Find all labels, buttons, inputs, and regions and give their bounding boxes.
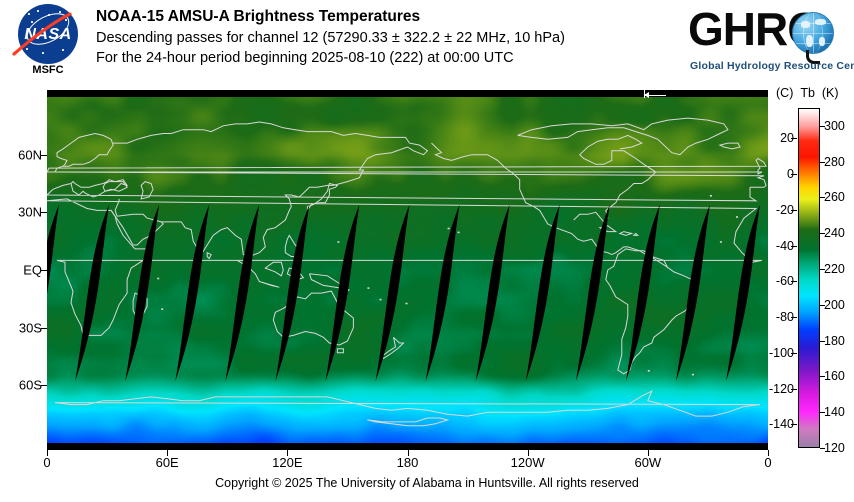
colorbar-celsius-label: -100 [769,346,794,360]
colorbar-celsius-label: -140 [769,417,794,431]
nasa-logo: NASA MSFC [12,4,84,82]
colorbar-celsius-label: -120 [769,382,794,396]
colorbar-kelvin-label: 260 [824,190,845,204]
swath-gap-overlay [47,97,768,443]
colorbar-kelvin-label: 280 [824,155,845,169]
copyright-notice: Copyright © 2025 The University of Alaba… [0,476,854,490]
swath-gap-wedge [47,97,768,443]
colorbar-unit-c: (C) [776,86,793,100]
ghrc-logo: GHRC Global Hydrology Resource Center [688,4,848,78]
colorbar-kelvin-label: 180 [824,334,845,348]
colorbar-kelvin-label: 300 [824,119,845,133]
y-axis-label: 30N [18,205,42,220]
y-axis-label: 60S [19,378,42,393]
x-axis-label: 0 [764,455,771,470]
colorbar-unit-k: (K) [822,86,839,100]
nasa-swoosh-icon [10,10,76,58]
colorbar-celsius-label: -40 [776,239,794,253]
map-canvas [47,97,768,443]
visualization-page: NASA MSFC NOAA-15 AMSU-A Brightness Temp… [0,0,854,502]
subtitle-channel: Descending passes for channel 12 (57290.… [96,30,676,46]
x-axis-label: 0 [43,455,50,470]
y-axis-label: EQ [23,263,42,278]
colorbar-label-tb: Tb [800,86,815,100]
subtitle-period: For the 24-hour period beginning 2025-08… [96,50,676,66]
colorbar-celsius-label: -20 [776,203,794,217]
colorbar-kelvin-label: 140 [824,405,845,419]
ghrc-subtitle: Global Hydrology Resource Center [690,60,854,72]
title-block: NOAA-15 AMSU-A Brightness Temperatures D… [96,8,676,66]
colorbar-kelvin-label: 160 [824,369,845,383]
colorbar-kelvin-label: 200 [824,298,845,312]
map-plot [47,90,768,450]
colorbar-kelvin-label: 120 [824,441,845,455]
x-axis-label: 60E [156,455,179,470]
colorbar-celsius-label: -60 [776,274,794,288]
y-axis-label: 60N [18,147,42,162]
colorbar [798,108,820,448]
colorbar-kelvin-label: 240 [824,226,845,240]
x-axis-label: 120E [272,455,302,470]
colorbar-celsius-label: -80 [776,310,794,324]
nasa-center-label: MSFC [12,64,84,76]
colorbar-gradient [798,108,820,448]
ghrc-globe-icon [792,12,834,54]
colorbar-kelvin-label: 220 [824,262,845,276]
page-title: NOAA-15 AMSU-A Brightness Temperatures [96,8,676,26]
x-axis-label: 60W [634,455,661,470]
x-axis-label: 120W [511,455,545,470]
y-axis-label: 30S [19,320,42,335]
orbit-node-marker-arrow [644,92,649,98]
colorbar-celsius-label: 20 [780,131,794,145]
colorbar-celsius-label: 0 [787,167,794,181]
x-axis-label: 180 [397,455,419,470]
colorbar-header: (C) Tb (K) [776,86,839,100]
